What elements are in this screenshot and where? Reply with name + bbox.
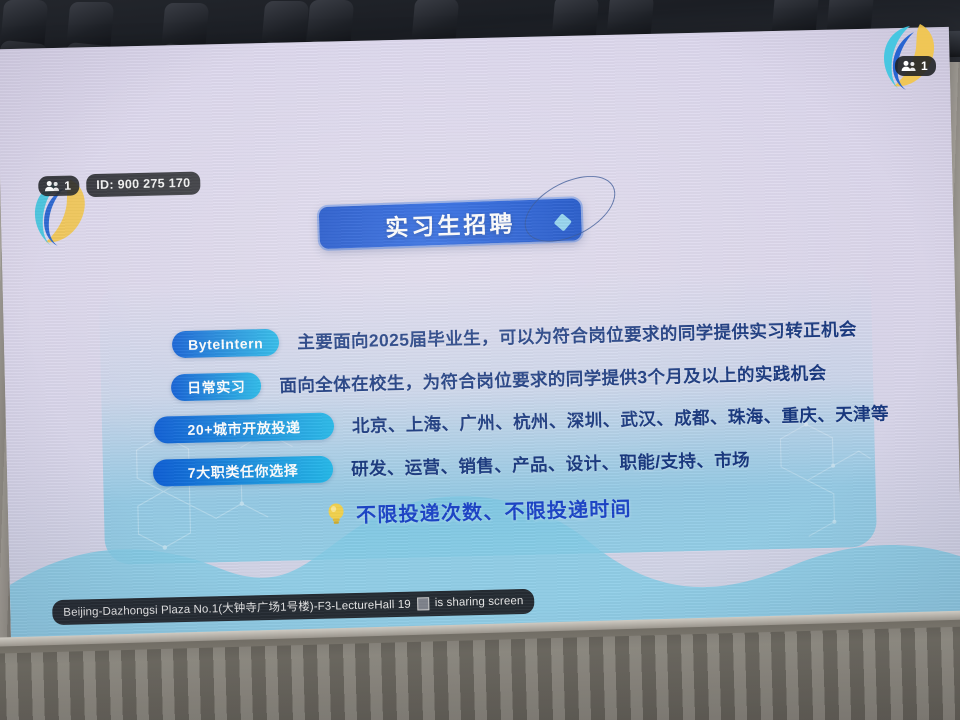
row-pill-label: 日常实习 <box>171 372 262 401</box>
list-item: 20+城市开放投递 北京、上海、广州、杭州、深圳、武汉、成都、珠海、重庆、天津等 <box>154 399 889 443</box>
meeting-id-badge: ID: 900 275 170 <box>86 172 201 198</box>
row-description: 研发、运营、销售、产品、设计、职能/支持、市场 <box>351 447 751 481</box>
list-item: ByteIntern 主要面向2025届毕业生，可以为符合岗位要求的同学提供实习… <box>172 315 857 358</box>
missing-glyph-icon <box>417 597 429 610</box>
row-pill-label: ByteIntern <box>172 329 280 359</box>
list-item: 7大职类任你选择 研发、运营、销售、产品、设计、职能/支持、市场 <box>153 446 751 487</box>
row-description: 面向全体在校生，为符合岗位要求的同学提供3个月及以上的实践机会 <box>279 360 827 398</box>
participants-icon <box>44 180 59 192</box>
participants-icon <box>901 60 916 72</box>
participant-count-badge: 1 <box>895 56 936 76</box>
highlight-note: 不限投递次数、不限投递时间 <box>326 492 632 528</box>
participant-count-value: 1 <box>64 179 71 193</box>
row-description: 北京、上海、广州、杭州、深圳、武汉、成都、珠海、重庆、天津等 <box>352 400 889 438</box>
projection-screen: 实习生招聘 <box>0 27 960 649</box>
feishu-swoosh-logo <box>880 18 942 92</box>
participant-count-badge: 1 <box>38 175 79 196</box>
row-pill-label: 20+城市开放投递 <box>154 412 335 443</box>
participant-count-value: 1 <box>921 59 928 73</box>
row-description: 主要面向2025届毕业生，可以为符合岗位要求的同学提供实习转正机会 <box>297 316 857 354</box>
share-source-name: Beijing-Dazhongsi Plaza No.1(大钟寺广场1号楼)-F… <box>63 596 411 620</box>
lightbulb-icon <box>326 502 347 526</box>
row-pill-label: 7大职类任你选择 <box>153 456 334 487</box>
bullet-rows: ByteIntern 主要面向2025届毕业生，可以为符合岗位要求的同学提供实习… <box>0 27 960 649</box>
list-item: 日常实习 面向全体在校生，为符合岗位要求的同学提供3个月及以上的实践机会 <box>171 359 827 401</box>
slide-content: 实习生招聘 <box>0 27 960 649</box>
share-status-text: is sharing screen <box>435 595 524 609</box>
conference-room-photo: 实习生招聘 <box>0 0 960 720</box>
projected-slide: 实习生招聘 <box>0 27 960 649</box>
highlight-text: 不限投递次数、不限投递时间 <box>356 492 632 527</box>
